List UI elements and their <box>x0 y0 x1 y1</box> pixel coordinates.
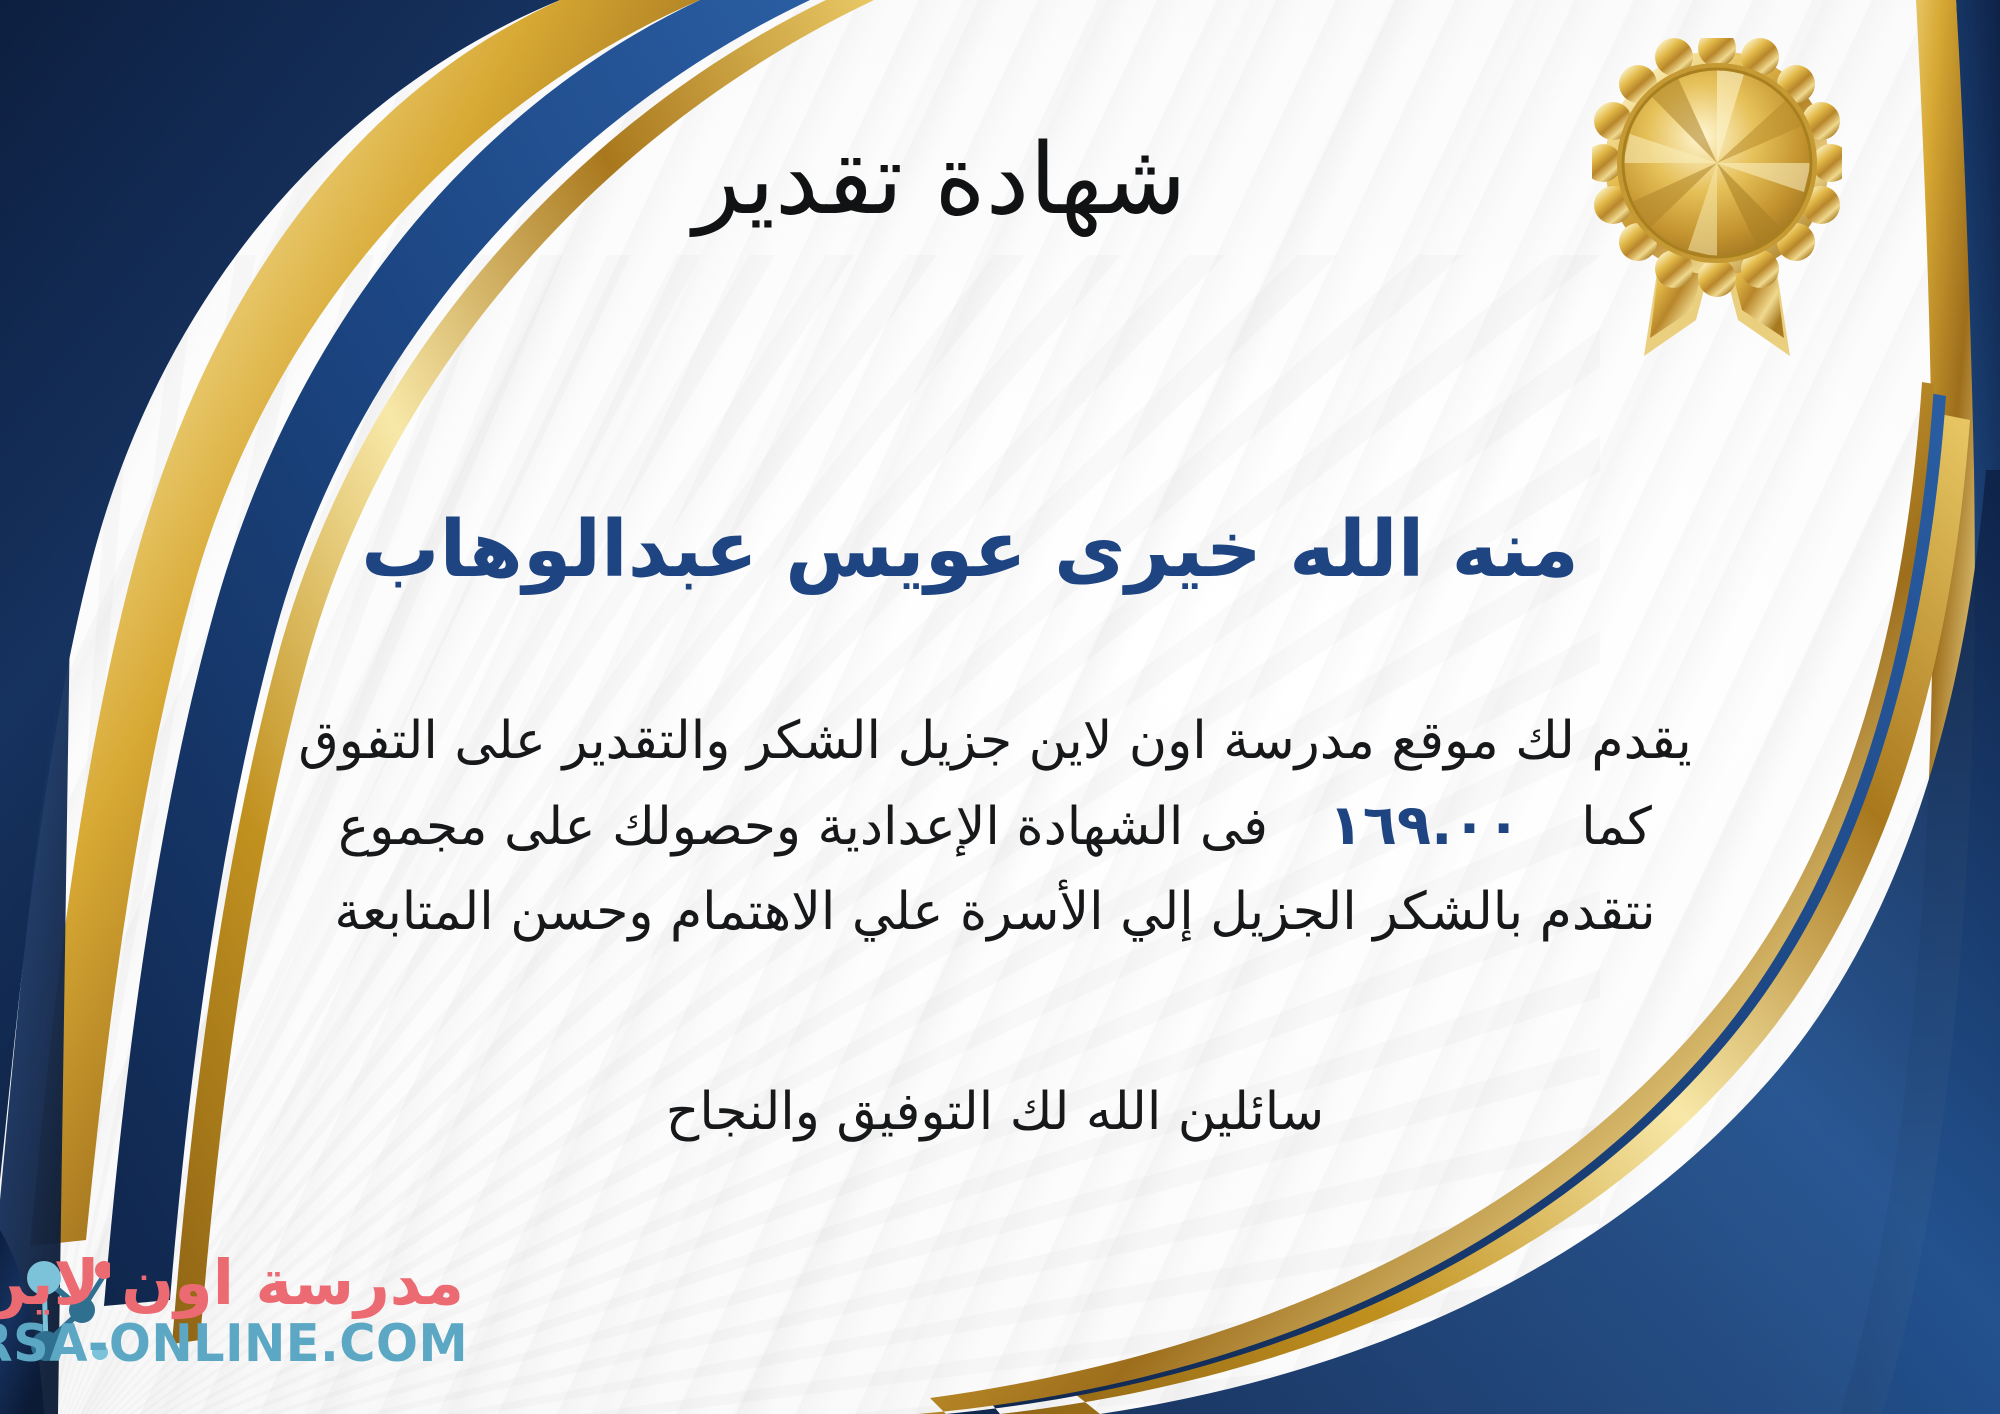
closing-line: سائلين الله لك التوفيق والنجاح <box>60 1082 1930 1142</box>
body-line-2-suffix: كما <box>1581 797 1652 857</box>
brand-arabic-name: مدرسة اون لاين <box>0 1246 464 1319</box>
recipient-name: منه الله خيرى عويس عبدالوهاب <box>0 508 1940 594</box>
certificate-title: شهادة تقدير <box>0 128 1880 234</box>
body-line-3: نتقدم بالشكر الجزيل إلي الأسرة علي الاهت… <box>60 871 1930 953</box>
body-line-2: كما ١٦٩.٠٠ فى الشهادة الإعدادية وحصولك ع… <box>60 782 1930 870</box>
total-score-value: ١٦٩.٠٠ <box>1285 782 1565 870</box>
body-line-2-prefix: فى الشهادة الإعدادية وحصولك على مجموع <box>338 797 1268 857</box>
body-line-1: يقدم لك موقع مدرسة اون لاين جزيل الشكر و… <box>60 700 1930 782</box>
brand-logo[interactable]: مدرسة اون لاين MADRSA-ONLINE.COM <box>22 1242 542 1382</box>
certificate-canvas: شهادة تقدير منه الله خيرى عويس عبدالوهاب… <box>0 0 2000 1414</box>
certificate-body: يقدم لك موقع مدرسة اون لاين جزيل الشكر و… <box>60 700 1930 953</box>
brand-url: MADRSA-ONLINE.COM <box>0 1314 468 1374</box>
